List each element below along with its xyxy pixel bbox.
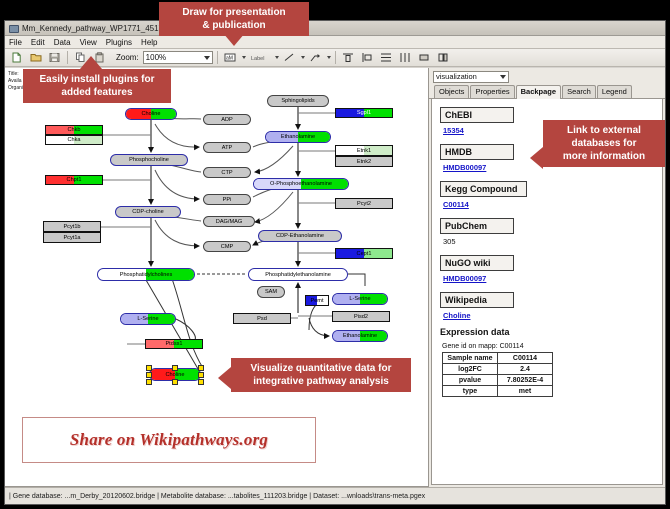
- tab-properties[interactable]: Properties: [470, 85, 514, 98]
- node-gene-etnk2[interactable]: Etnk2: [335, 156, 393, 167]
- floppy-save-icon[interactable]: [46, 49, 63, 66]
- node-label: Choline: [142, 111, 161, 117]
- callout-arrow-up: [80, 56, 102, 69]
- node-label: Etnk2: [357, 159, 371, 165]
- selection-handle[interactable]: [198, 365, 204, 371]
- expr-value: 2.4: [498, 364, 553, 375]
- svg-text:Label: Label: [251, 56, 264, 62]
- node-label: Pemt: [310, 298, 323, 304]
- node-label: ADP: [221, 117, 233, 123]
- callout-line-2: integrative pathway analysis: [237, 375, 405, 388]
- selection-handle[interactable]: [146, 365, 152, 371]
- callout-visualize-quantitative-data: Visualize quantitative data for integrat…: [231, 358, 411, 392]
- node-adp[interactable]: ADP: [203, 114, 251, 125]
- selection-handle[interactable]: [198, 379, 204, 385]
- node-label: Pisd2: [354, 314, 368, 320]
- zoom-select[interactable]: 100%: [143, 51, 213, 64]
- screenshot-root: Mm_Kennedy_pathway_WP1771_45176.gpml Fil…: [0, 0, 670, 509]
- chevron-down-icon: [204, 56, 210, 60]
- table-row: type met: [443, 386, 553, 397]
- node-cdp-choline[interactable]: CDP-choline: [115, 206, 181, 218]
- callout-arrow-left: [218, 367, 231, 389]
- toolbar: Zoom: 100% aM Label: [5, 49, 665, 67]
- callout-external-databases: Link to external databases for more info…: [543, 120, 665, 167]
- svg-text:aM: aM: [226, 56, 233, 62]
- db-header-chebi: ChEBI: [440, 107, 514, 123]
- tab-objects[interactable]: Objects: [434, 85, 469, 98]
- menu-item-view[interactable]: View: [80, 38, 97, 47]
- node-label: O-Phosphoethanolamine: [270, 181, 332, 187]
- table-row: log2FC 2.4: [443, 364, 553, 375]
- expression-data-heading: Expression data: [440, 327, 662, 337]
- node-label: Chka: [67, 137, 80, 143]
- node-cmp[interactable]: CMP: [203, 241, 251, 252]
- db-link-kegg-compound[interactable]: C00114: [443, 200, 662, 209]
- menu-item-file[interactable]: File: [9, 38, 22, 47]
- table-row: pvalue 7.80252E-4: [443, 375, 553, 386]
- callout-share-on-wikipathways: Share on Wikipathways.org: [22, 417, 316, 463]
- callout-line-2: databases for: [549, 137, 659, 150]
- zoom-value: 100%: [146, 53, 166, 62]
- node-label: SAM: [265, 289, 277, 295]
- chevron-down-icon[interactable]: [327, 56, 331, 59]
- node-cdp-ethanolamine[interactable]: CDP-Ethanolamine: [258, 230, 342, 242]
- side-panel-tabs: Objects Properties Backpage Search Legen…: [429, 85, 665, 99]
- chevron-down-icon[interactable]: [275, 56, 279, 59]
- node-label: CMP: [221, 244, 233, 250]
- selection-handle[interactable]: [172, 379, 178, 385]
- callout-line-1: Visualize quantitative data for: [237, 362, 405, 375]
- node-label: Pcyt1b: [63, 224, 80, 230]
- node-dag-mag[interactable]: DAG/MAG: [203, 216, 255, 227]
- db-header-nugo-wiki: NuGO wiki: [440, 255, 514, 271]
- toolbar-separator: [67, 51, 68, 64]
- align-left-icon[interactable]: [359, 49, 376, 66]
- node-label: Phosphatidylethanolamine: [265, 272, 331, 278]
- node-gene-chka[interactable]: Chka: [45, 135, 103, 145]
- datanode-icon[interactable]: aM: [222, 49, 239, 66]
- node-gene-etnk1[interactable]: Etnk1: [335, 145, 393, 156]
- db-header-kegg-compound: Kegg Compound: [440, 181, 527, 197]
- node-label: L-Serine: [349, 296, 370, 302]
- callout-line-1: Link to external: [549, 124, 659, 137]
- align-top-icon[interactable]: [340, 49, 357, 66]
- tab-search[interactable]: Search: [562, 85, 596, 98]
- node-label: Pcyt2: [357, 201, 371, 207]
- menu-item-plugins[interactable]: Plugins: [106, 38, 132, 47]
- node-label: Etnk1: [357, 148, 371, 154]
- selection-handle[interactable]: [172, 365, 178, 371]
- node-label: Ethanolamine: [281, 134, 315, 140]
- callout-line-1: Easily install plugins for: [29, 73, 165, 86]
- tab-backpage[interactable]: Backpage: [516, 85, 561, 99]
- node-gene-pcyt1b[interactable]: Pcyt1b: [43, 221, 101, 232]
- distribute-vertical-icon[interactable]: [378, 49, 395, 66]
- node-phosphocholine[interactable]: Phosphocholine: [110, 154, 188, 166]
- visualization-value: visualization: [436, 72, 477, 81]
- node-label: Pcyt1a: [63, 235, 80, 241]
- node-label: Chpt1: [67, 177, 82, 183]
- node-label: L-Serine: [137, 316, 158, 322]
- expression-table: Sample name C00114 log2FC 2.4 pvalue 7.8…: [442, 352, 553, 397]
- node-gene-pcyt2[interactable]: Pcyt2: [335, 198, 393, 209]
- expr-value: met: [498, 386, 553, 397]
- expr-key: Sample name: [443, 353, 498, 364]
- node-label: Phosphatidylcholines: [120, 272, 173, 278]
- node-label: ATP: [222, 145, 232, 151]
- node-atp[interactable]: ATP: [203, 142, 251, 153]
- share-text: Share on Wikipathways.org: [70, 430, 268, 450]
- node-gene-cept1[interactable]: Cept1: [335, 248, 393, 259]
- node-gene-pemt[interactable]: Pemt: [305, 295, 329, 306]
- node-sphingolipids[interactable]: Sphingolipids: [267, 95, 329, 107]
- db-header-pubchem: PubChem: [440, 218, 514, 234]
- menu-item-data[interactable]: Data: [54, 38, 71, 47]
- node-label: Ethanolamine: [343, 333, 377, 339]
- expr-value: 7.80252E-4: [498, 375, 553, 386]
- selection-handle[interactable]: [146, 379, 152, 385]
- node-sam[interactable]: SAM: [257, 286, 285, 298]
- db-value-pubchem: 305: [443, 237, 662, 246]
- open-folder-icon[interactable]: [27, 49, 44, 66]
- node-l-serine-right[interactable]: L-Serine: [332, 293, 388, 305]
- callout-draw-for-publication: Draw for presentation & publication: [159, 2, 309, 36]
- node-label: CTP: [221, 170, 232, 176]
- node-gene-pcyt1a[interactable]: Pcyt1a: [43, 232, 101, 243]
- node-ctp[interactable]: CTP: [203, 167, 251, 178]
- zoom-label: Zoom:: [116, 53, 139, 62]
- db-link-wikipedia[interactable]: Choline: [443, 311, 662, 320]
- expr-key: type: [443, 386, 498, 397]
- line-icon[interactable]: [281, 49, 298, 66]
- db-link-nugo-wiki[interactable]: HMDB00097: [443, 274, 662, 283]
- new-document-icon[interactable]: [8, 49, 25, 66]
- expr-value: C00114: [498, 353, 553, 364]
- node-label: Phosphocholine: [129, 157, 169, 163]
- node-gene-sgpl1[interactable]: Sgpl1: [335, 108, 393, 118]
- node-ppi[interactable]: PPi: [203, 194, 251, 205]
- node-gene-psd[interactable]: Psd: [233, 313, 291, 324]
- title-bar: Mm_Kennedy_pathway_WP1771_45176.gpml: [5, 21, 665, 36]
- gene-id-line: Gene id on mapp: C00114: [442, 343, 662, 350]
- node-label: Chkb: [67, 127, 80, 133]
- toolbar-separator: [335, 51, 336, 64]
- node-l-serine-left[interactable]: L-Serine: [120, 313, 176, 325]
- callout-line-3: more information: [549, 150, 659, 163]
- chevron-down-icon[interactable]: [301, 56, 305, 59]
- callout-install-plugins: Easily install plugins for added feature…: [23, 69, 171, 103]
- node-label: DAG/MAG: [216, 219, 242, 225]
- menu-bar: File Edit Data View Plugins Help: [5, 36, 665, 49]
- node-gene-pisd2[interactable]: Pisd2: [332, 311, 390, 322]
- node-label: Sgpl1: [357, 110, 371, 116]
- node-o-phosphoethanolamine[interactable]: O-Phosphoethanolamine: [253, 178, 349, 190]
- node-label: Choline: [166, 372, 185, 378]
- visualization-select[interactable]: visualization: [433, 71, 509, 83]
- db-header-wikipedia: Wikipedia: [440, 292, 514, 308]
- visualization-bar: visualization: [429, 68, 665, 85]
- status-text: | Gene database: ...m_Derby_20120602.bri…: [9, 493, 425, 500]
- callout-line-1: Draw for presentation: [165, 6, 303, 19]
- node-label: Ptdss1: [165, 341, 182, 347]
- selection-handle[interactable]: [198, 372, 204, 378]
- tab-legend[interactable]: Legend: [597, 85, 632, 98]
- menu-item-edit[interactable]: Edit: [31, 38, 45, 47]
- db-header-hmdb: HMDB: [440, 144, 514, 160]
- common-width-icon[interactable]: [416, 49, 433, 66]
- expr-key: pvalue: [443, 375, 498, 386]
- node-label: PPi: [223, 197, 232, 203]
- node-label: Psd: [257, 316, 267, 322]
- node-phosphatidylcholines[interactable]: Phosphatidylcholines: [97, 268, 195, 281]
- node-gene-chkb[interactable]: Chkb: [45, 125, 103, 135]
- toolbar-separator: [217, 51, 218, 64]
- table-row: Sample name C00114: [443, 353, 553, 364]
- node-phosphatidylethanolamine[interactable]: Phosphatidylethanolamine: [248, 268, 348, 281]
- menu-item-help[interactable]: Help: [141, 38, 157, 47]
- node-gene-ptdss1[interactable]: Ptdss1: [145, 339, 203, 349]
- interaction-arrow-icon[interactable]: [307, 49, 324, 66]
- label-icon[interactable]: Label: [248, 49, 272, 66]
- status-bar: | Gene database: ...m_Derby_20120602.bri…: [5, 487, 665, 504]
- chevron-down-icon: [500, 75, 506, 79]
- node-choline-top[interactable]: Choline: [125, 108, 177, 120]
- node-label: CDP-Ethanolamine: [276, 233, 324, 239]
- callout-line-2: added features: [29, 86, 165, 99]
- common-height-icon[interactable]: [435, 49, 452, 66]
- chevron-down-icon[interactable]: [242, 56, 246, 59]
- expr-key: log2FC: [443, 364, 498, 375]
- distribute-horizontal-icon[interactable]: [397, 49, 414, 66]
- node-label: Cept1: [357, 251, 372, 257]
- node-gene-chpt1[interactable]: Chpt1: [45, 175, 103, 185]
- node-label: Sphingolipids: [281, 98, 314, 104]
- node-ethanolamine-lower[interactable]: Ethanolamine: [332, 330, 388, 342]
- pathvisio-app-icon: [8, 23, 18, 33]
- node-ethanolamine[interactable]: Ethanolamine: [265, 131, 331, 143]
- callout-arrow-left: [530, 147, 543, 169]
- node-label: CDP-choline: [132, 209, 163, 215]
- selection-handle[interactable]: [146, 372, 152, 378]
- callout-line-2: & publication: [165, 19, 303, 32]
